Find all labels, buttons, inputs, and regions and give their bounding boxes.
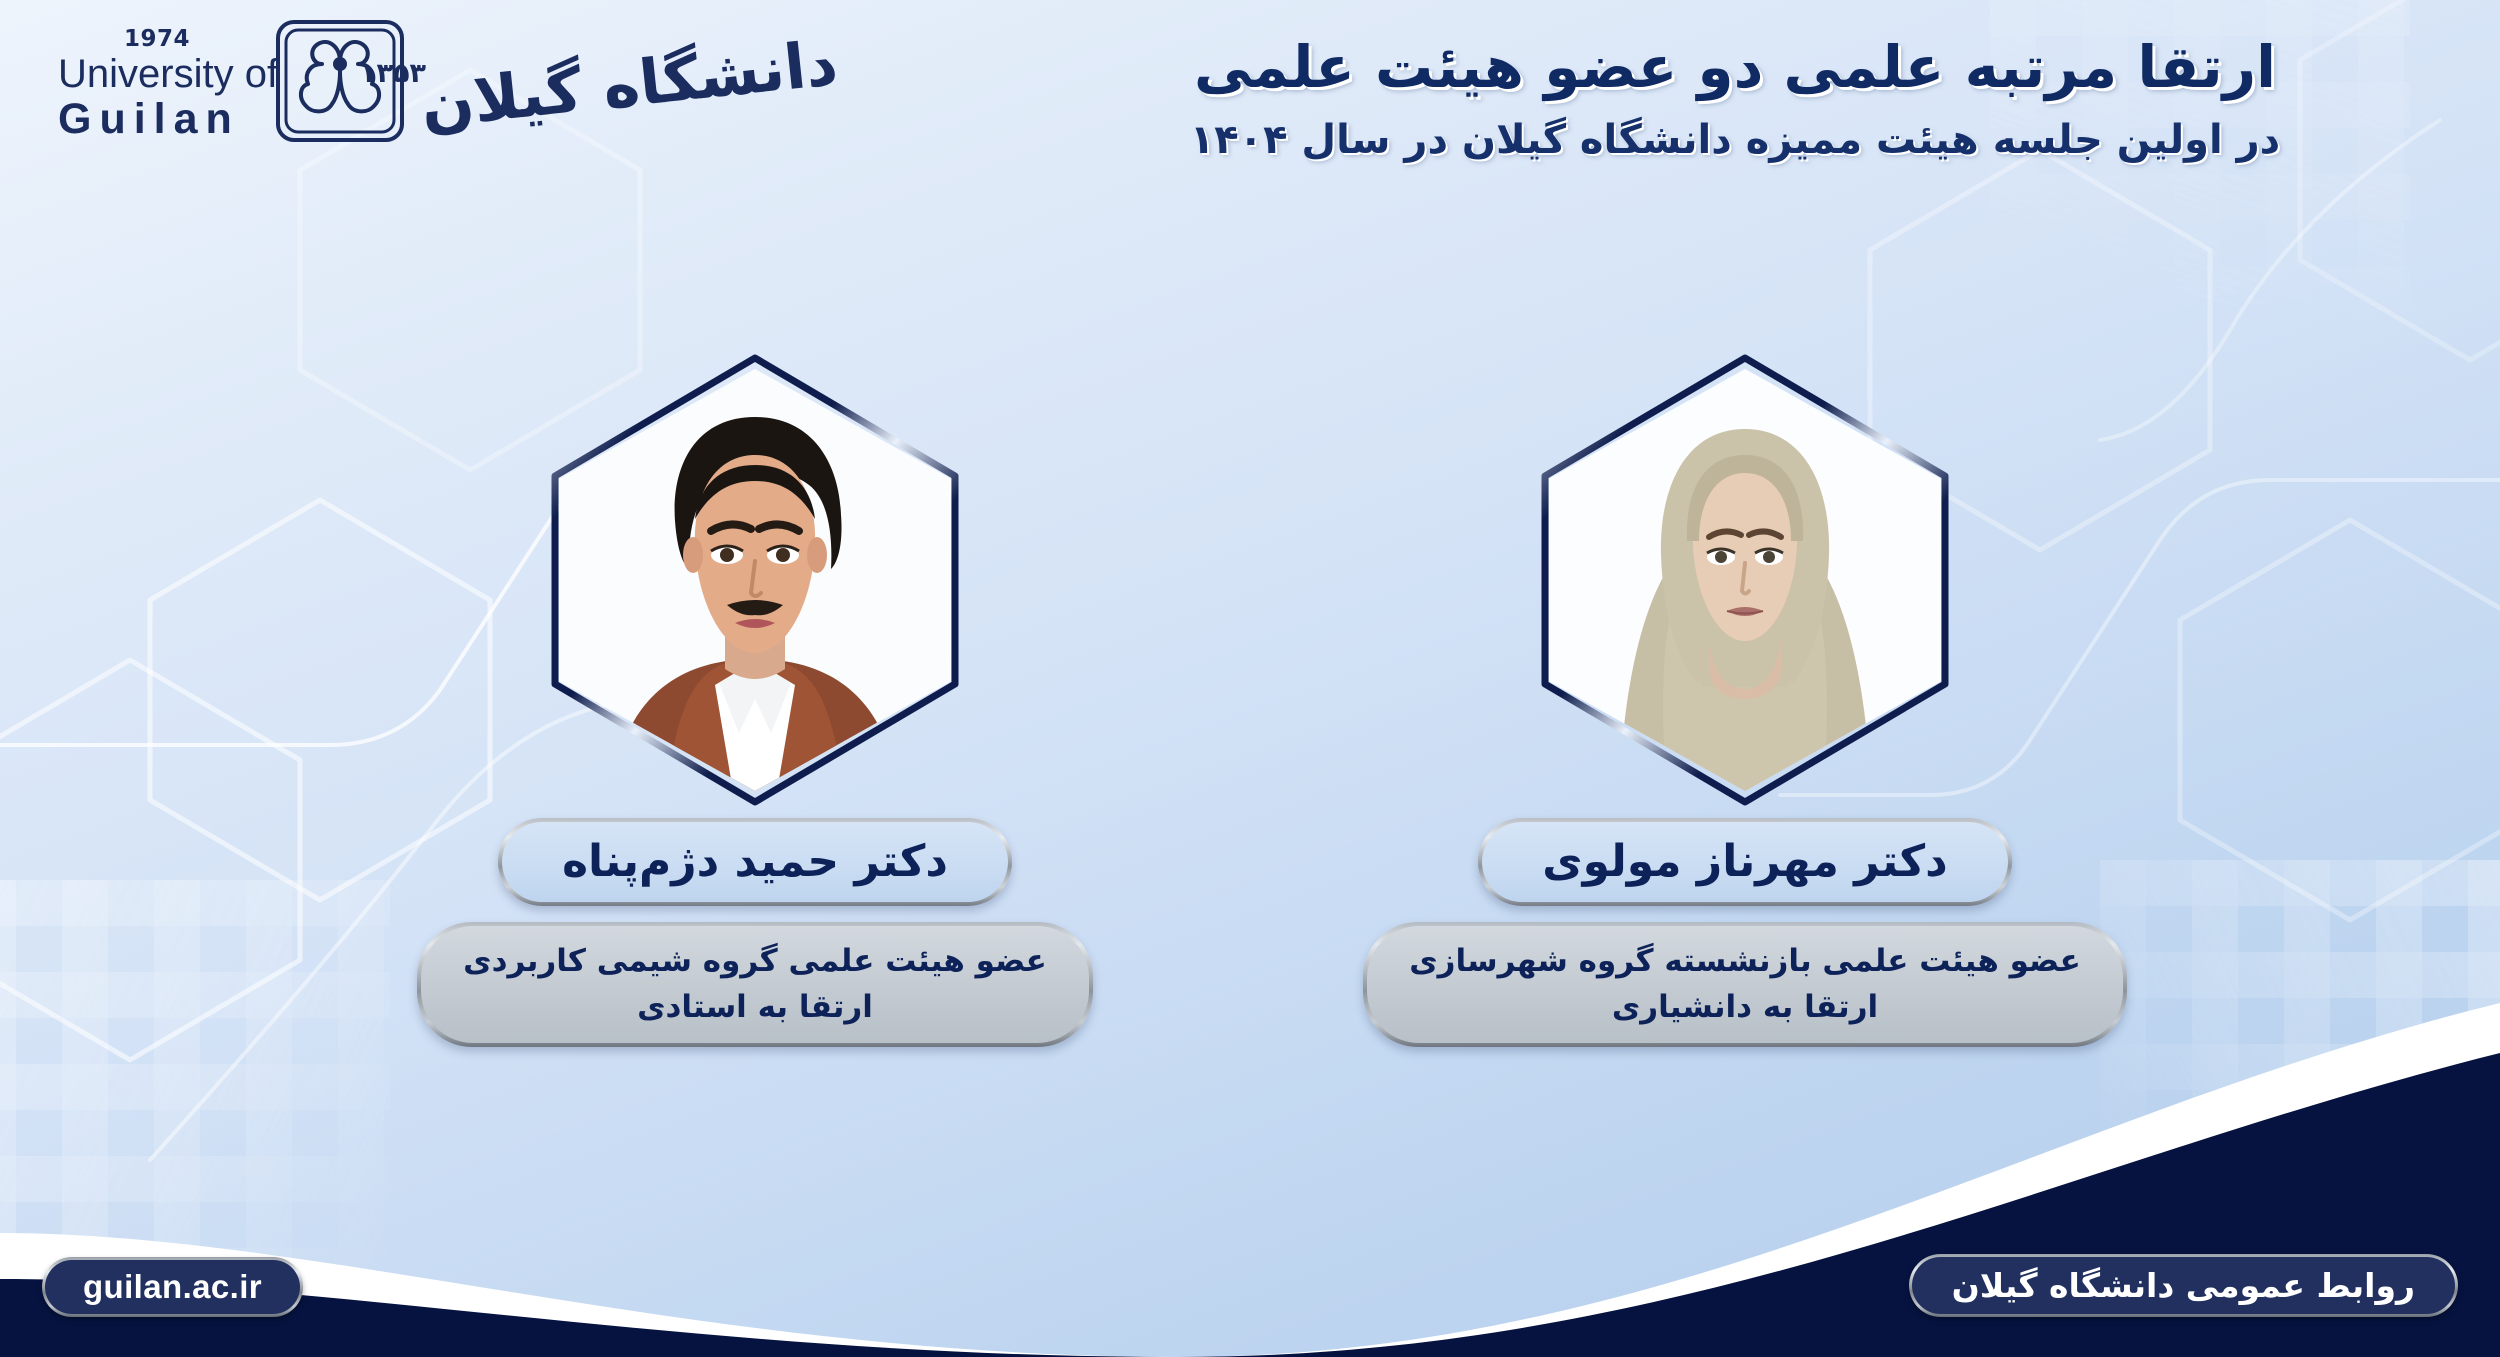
public-relations-label: روابط عمومی دانشگاه گیلان <box>1912 1257 2455 1314</box>
honoree-name-plate: دکتر حمید دژم‌پناه <box>498 818 1012 906</box>
header-titles: ارتقا مرتبه علمی دو عضو هیئت علمی در اول… <box>1090 28 2380 168</box>
logo-founding-year-fa: ۱۳۵۳ <box>360 58 426 89</box>
website-chip[interactable]: guilan.ac.ir <box>42 1257 303 1317</box>
logo-university-name-fa: دانشگاه گیلان <box>417 26 841 142</box>
hexagon-outline <box>540 350 970 810</box>
hexagon-photo-frame <box>540 350 970 810</box>
hexagon-outline <box>1530 350 1960 810</box>
poster-canvas: 1974 University of Guilan ۱۳۵۳ دانشگاه گ… <box>0 0 2500 1357</box>
public-relations-chip: روابط عمومی دانشگاه گیلان <box>1909 1254 2458 1317</box>
logo-university-word: University of <box>58 54 278 94</box>
logo-founding-year-en: 1974 <box>124 28 278 51</box>
honoree-name: دکتر حمید دژم‌پناه <box>562 836 948 888</box>
logo-guilan-word: Guilan <box>58 98 278 141</box>
logo-english-text: 1974 University of Guilan <box>58 28 278 141</box>
university-logo: 1974 University of Guilan ۱۳۵۳ دانشگاه گ… <box>30 8 500 148</box>
page-subtitle: در اولین جلسه هیئت ممیزه دانشگاه گیلان د… <box>1090 112 2380 168</box>
website-url[interactable]: guilan.ac.ir <box>45 1260 300 1314</box>
hexagon-photo-frame <box>1530 350 1960 810</box>
page-title: ارتقا مرتبه علمی دو عضو هیئت علمی <box>1090 28 2380 106</box>
honoree-name: دکتر مهرناز مولوی <box>1542 836 1947 888</box>
honoree-name-plate: دکتر مهرناز مولوی <box>1478 818 2011 906</box>
